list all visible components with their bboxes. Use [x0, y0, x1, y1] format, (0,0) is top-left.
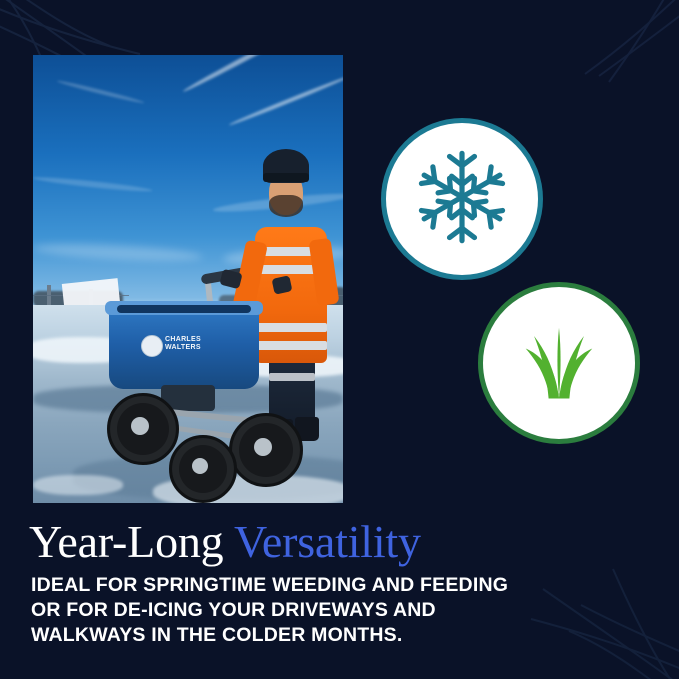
- product-photo: CHARLES WALTERS: [33, 55, 343, 503]
- subcopy-line-3: WALKWAYS IN THE COLDER MONTHS.: [31, 623, 591, 648]
- promo-banner: CHARLES WALTERS: [0, 0, 679, 679]
- frond-decoration-top-right: [565, 0, 679, 100]
- subcopy-line-1: IDEAL FOR SPRINGTIME WEEDING AND FEEDING: [31, 573, 591, 598]
- brand-name: CHARLES WALTERS: [165, 336, 201, 352]
- subcopy: IDEAL FOR SPRINGTIME WEEDING AND FEEDING…: [31, 573, 591, 648]
- grass-icon: [507, 309, 611, 418]
- brand-logo-mark: [141, 335, 163, 357]
- grass-badge: [478, 282, 640, 444]
- snowflake-icon: [410, 145, 514, 254]
- subcopy-line-2: OR FOR DE-ICING YOUR DRIVEWAYS AND: [31, 598, 591, 623]
- headline-primary: Year-Long: [29, 516, 234, 567]
- brand-name-line1: CHARLES: [165, 336, 201, 343]
- snowflake-badge: [381, 118, 543, 280]
- brand-name-line2: WALTERS: [165, 344, 201, 351]
- headline-accent: Versatility: [234, 516, 421, 567]
- headline: Year-Long Versatility: [29, 516, 421, 568]
